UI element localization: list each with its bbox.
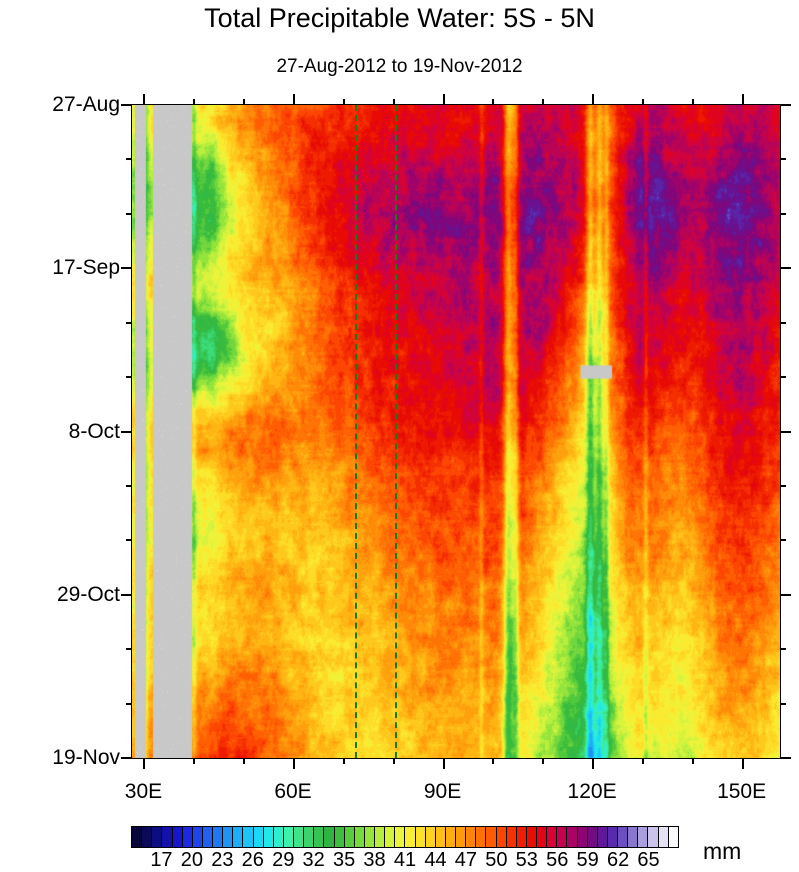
- colorbar-cell-29: [426, 827, 436, 847]
- x-tick-top-30E: [143, 94, 145, 105]
- x-tick-60E: [293, 758, 295, 769]
- colorbar-cell-37: [507, 827, 517, 847]
- y-tick-day-0: [121, 104, 132, 106]
- colorbar-cell-48: [618, 827, 628, 847]
- colorbar-unit-label: mm: [703, 838, 741, 864]
- colorbar-cell-32: [456, 827, 466, 847]
- y-tick-day-35: [126, 376, 132, 378]
- colorbar-cell-3: [162, 827, 172, 847]
- x-tick-top-90E: [443, 94, 445, 105]
- y-tick-day-63: [121, 594, 132, 596]
- x-tick-top-40E: [193, 99, 195, 105]
- y-axis-label-27-Aug: 27-Aug: [2, 92, 120, 117]
- colorbar-cell-20: [335, 827, 345, 847]
- y-tick-right-day-0: [780, 104, 791, 106]
- y-tick-right-day-28: [780, 322, 786, 324]
- colorbar-cell-52: [659, 827, 669, 847]
- colorbar-cell-0: [132, 827, 142, 847]
- colorbar-cell-42: [557, 827, 567, 847]
- y-tick-day-42: [121, 431, 132, 433]
- colorbar-cell-46: [598, 827, 608, 847]
- x-tick-top-80E: [393, 99, 395, 105]
- colorbar-cell-25: [385, 827, 395, 847]
- colorbar-tick-65: 65: [619, 849, 679, 872]
- colorbar-cell-53: [669, 827, 678, 847]
- x-tick-80E: [393, 758, 395, 764]
- y-tick-day-28: [126, 322, 132, 324]
- colorbar-cell-35: [486, 827, 496, 847]
- colorbar-cell-9: [223, 827, 233, 847]
- x-tick-40E: [193, 758, 195, 764]
- colorbar-cell-28: [416, 827, 426, 847]
- colorbar-cell-45: [588, 827, 598, 847]
- colorbar-cell-43: [567, 827, 577, 847]
- y-tick-right-day-70: [780, 648, 786, 650]
- colorbar-cell-2: [152, 827, 162, 847]
- colorbar-cell-49: [628, 827, 638, 847]
- colorbar-cell-33: [466, 827, 476, 847]
- x-tick-100E: [492, 758, 494, 764]
- colorbar-cell-10: [233, 827, 243, 847]
- y-axis-label-8-Oct: 8-Oct: [2, 419, 120, 444]
- y-tick-day-84: [121, 757, 132, 759]
- x-axis-label-30E: 30E: [88, 779, 198, 804]
- colorbar-cell-17: [304, 827, 314, 847]
- colorbar-cell-23: [365, 827, 375, 847]
- longitude-guide-line-1: [355, 105, 357, 758]
- x-axis-label-120E: 120E: [537, 779, 647, 804]
- x-tick-50E: [243, 758, 245, 764]
- colorbar-cell-34: [476, 827, 486, 847]
- precipitable-water-field: [132, 105, 780, 758]
- colorbar-cell-11: [243, 827, 253, 847]
- colorbar-cell-18: [314, 827, 324, 847]
- y-tick-day-77: [126, 703, 132, 705]
- x-tick-top-60E: [293, 94, 295, 105]
- y-axis-label-17-Sep: 17-Sep: [2, 255, 120, 280]
- colorbar-cell-6: [193, 827, 203, 847]
- colorbar-cell-4: [173, 827, 183, 847]
- y-tick-day-56: [126, 539, 132, 541]
- y-tick-right-day-14: [780, 213, 786, 215]
- colorbar-cell-26: [395, 827, 405, 847]
- y-axis-label-19-Nov: 19-Nov: [2, 745, 120, 770]
- y-tick-day-70: [126, 648, 132, 650]
- colorbar-cell-15: [284, 827, 294, 847]
- x-tick-130E: [642, 758, 644, 764]
- y-axis-label-29-Oct: 29-Oct: [2, 582, 120, 607]
- colorbar-cell-12: [254, 827, 264, 847]
- colorbar-cell-13: [264, 827, 274, 847]
- colorbar-cell-8: [213, 827, 223, 847]
- y-tick-right-day-7: [780, 158, 786, 160]
- y-tick-right-day-77: [780, 703, 786, 705]
- x-axis-label-150E: 150E: [687, 779, 797, 804]
- y-tick-right-day-49: [780, 485, 786, 487]
- colorbar-swatches: [131, 826, 679, 848]
- x-tick-top-130E: [642, 99, 644, 105]
- hovmoller-plot: [131, 104, 781, 759]
- x-axis-label-60E: 60E: [238, 779, 348, 804]
- y-tick-day-49: [126, 485, 132, 487]
- colorbar-cell-1: [142, 827, 152, 847]
- x-tick-top-110E: [542, 99, 544, 105]
- colorbar-cell-7: [203, 827, 213, 847]
- x-tick-110E: [542, 758, 544, 764]
- colorbar-cell-14: [274, 827, 284, 847]
- colorbar-cell-30: [436, 827, 446, 847]
- y-tick-right-day-84: [780, 757, 791, 759]
- y-tick-right-day-63: [780, 594, 791, 596]
- y-tick-day-21: [121, 267, 132, 269]
- longitude-guide-line-2: [395, 105, 397, 758]
- colorbar-cell-38: [517, 827, 527, 847]
- x-axis-label-90E: 90E: [388, 779, 498, 804]
- colorbar-cell-5: [183, 827, 193, 847]
- date-range-subtitle: 27-Aug-2012 to 19-Nov-2012: [0, 55, 799, 78]
- y-tick-day-7: [126, 158, 132, 160]
- colorbar-cell-39: [527, 827, 537, 847]
- colorbar-cell-24: [375, 827, 385, 847]
- x-tick-90E: [443, 758, 445, 769]
- y-tick-right-day-35: [780, 376, 786, 378]
- page-title: Total Precipitable Water: 5S - 5N: [0, 2, 799, 34]
- colorbar-cell-21: [345, 827, 355, 847]
- colorbar-cell-44: [578, 827, 588, 847]
- x-tick-top-70E: [343, 99, 345, 105]
- colorbar-cell-31: [446, 827, 456, 847]
- colorbar-cell-40: [537, 827, 547, 847]
- x-tick-top-120E: [592, 94, 594, 105]
- y-tick-right-day-56: [780, 539, 786, 541]
- x-tick-top-100E: [492, 99, 494, 105]
- y-tick-day-14: [126, 213, 132, 215]
- colorbar-cell-19: [324, 827, 334, 847]
- x-tick-top-50E: [243, 99, 245, 105]
- colorbar-cell-16: [294, 827, 304, 847]
- x-tick-30E: [143, 758, 145, 769]
- colorbar-cell-41: [547, 827, 557, 847]
- x-tick-120E: [592, 758, 594, 769]
- colorbar-cell-27: [405, 827, 415, 847]
- x-tick-150E: [742, 758, 744, 769]
- x-tick-top-150E: [742, 94, 744, 105]
- y-tick-right-day-21: [780, 267, 791, 269]
- colorbar-cell-22: [355, 827, 365, 847]
- colorbar: [131, 826, 679, 848]
- x-tick-140E: [692, 758, 694, 764]
- colorbar-cell-36: [497, 827, 507, 847]
- colorbar-cell-47: [608, 827, 618, 847]
- colorbar-cell-50: [638, 827, 648, 847]
- x-tick-70E: [343, 758, 345, 764]
- colorbar-cell-51: [648, 827, 658, 847]
- y-tick-right-day-42: [780, 431, 791, 433]
- x-tick-top-140E: [692, 99, 694, 105]
